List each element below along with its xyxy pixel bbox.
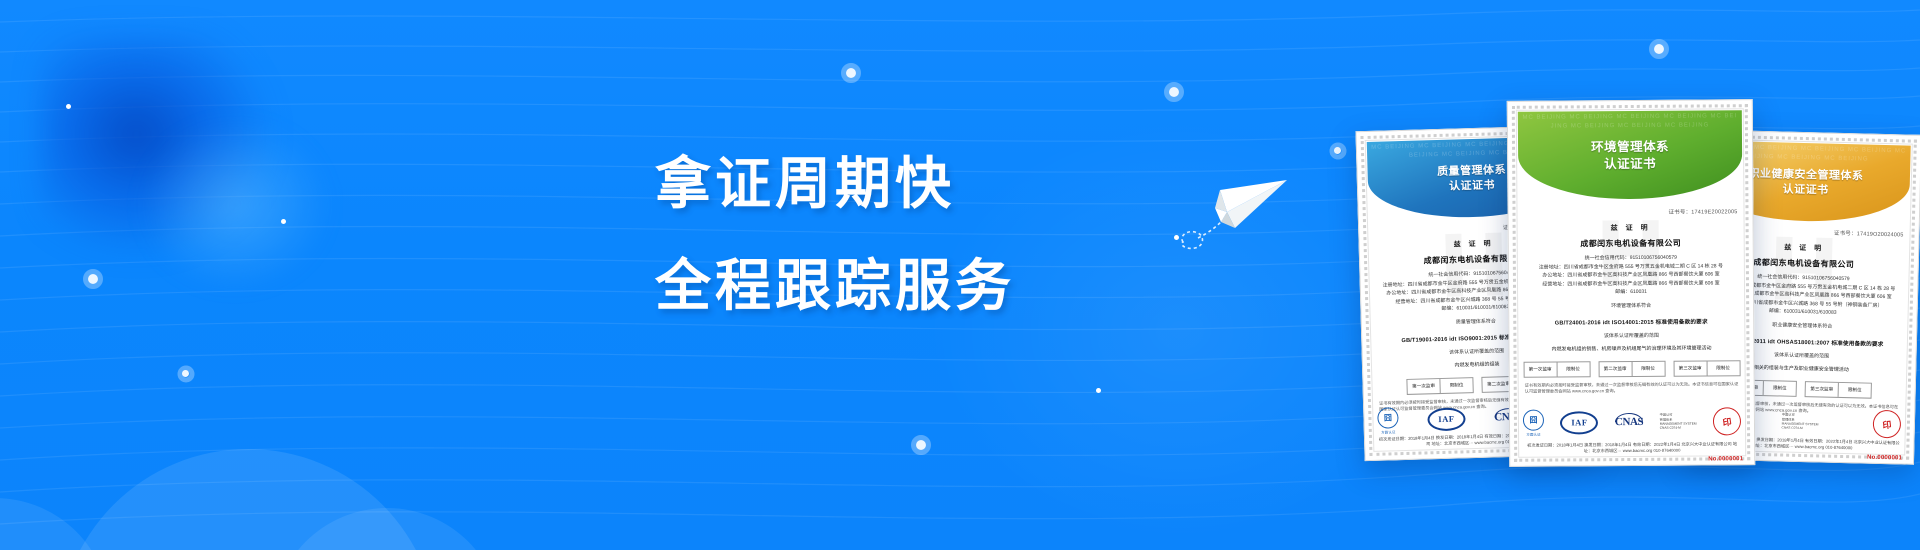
scope-label: 该体系认证所覆盖的范围 <box>1524 331 1738 339</box>
surveillance-group: 第一次监审限制位 <box>1523 361 1590 377</box>
surveillance-group: 第一次监审限制位 <box>1406 377 1473 395</box>
standard-reference: GB/T24001-2016 idt ISO14001:2015 标准使用备款的… <box>1524 317 1738 326</box>
decor-dot <box>88 274 98 284</box>
accreditation-logos: 囧方圆认证 IAF CNAS 中国认可管理体系MANAGEMENT SYSTEM… <box>1523 407 1741 437</box>
company-name: 成都闰东电机设备有限公司 <box>1524 237 1738 249</box>
glow-blob-light <box>140 120 330 290</box>
headline: 拿证周期快 全程跟踪服务 <box>655 143 1075 329</box>
promo-banner: 拿证周期快 全程跟踪服务 H MC BEIJING MC BEIJING MC … <box>0 0 1920 550</box>
prove-label: 兹 证 明 <box>1524 222 1738 233</box>
certificate-number-label: 证书号： <box>1668 210 1691 216</box>
scope-text: 内燃发电机组的销售、机房噪声及机组尾气的治理环境及其环境管理活动 <box>1524 344 1738 353</box>
fangyuan-seal-icon: 囧方圆认证 <box>1377 407 1399 435</box>
decor-dot <box>1169 87 1179 97</box>
credit-code-label: 统一社会信用代码： <box>1757 274 1802 281</box>
decor-dot <box>846 68 856 78</box>
postcode: 邮编：610031 <box>1524 287 1738 297</box>
certificate-card-environment[interactable]: H MC BEIJING MC BEIJING MC BEIJING MC BE… <box>1507 99 1756 467</box>
decor-dot <box>1096 388 1101 393</box>
credit-code-value: 91510106756040579 <box>1802 275 1849 282</box>
certificate-stack: H MC BEIJING MC BEIJING MC BEIJING MC BE… <box>1360 82 1920 482</box>
red-stamp-icon: 印 <box>1711 405 1743 437</box>
certificate-number-label: 证书号： <box>1834 231 1857 238</box>
fangyuan-seal-icon: 囧方圆认证 <box>1523 409 1544 436</box>
iaf-logo-icon: IAF <box>1560 411 1598 434</box>
surveillance-group: 第三次监审限制位 <box>1805 381 1872 399</box>
surveillance-group: 第三次监审限制位 <box>1673 360 1740 376</box>
decor-dot <box>281 219 286 224</box>
paper-plane-icon <box>1165 150 1315 260</box>
certificate-number: 证书号：17419E20022005 <box>1523 207 1737 216</box>
red-stamp-icon: 印 <box>1871 409 1902 440</box>
certificate-serial: No.0000001 <box>1708 456 1743 462</box>
decor-dot <box>182 370 189 377</box>
band-watermark-text: MC BEIJING MC BEIJING MC BEIJING MC BEIJ… <box>1518 110 1743 200</box>
surveillance-boxes: 第一次监审限制位 第二次监审限制位 第三次监审限制位 <box>1525 360 1739 377</box>
headline-line-2: 全程跟踪服务 <box>655 245 1075 329</box>
management-system-text: 中国认可管理体系MANAGEMENT SYSTEMCNAS C074-M <box>1660 413 1697 431</box>
fineprint: 证书有效期内必须按时接受监督审核，未通过一次监督审核后无缝有效的认证可以为无效。… <box>1525 381 1739 394</box>
credit-code-value: 91510106756040579 <box>1630 255 1677 261</box>
decor-dot <box>1334 147 1341 154</box>
certificate-number-value: 17419O20024005 <box>1857 231 1904 238</box>
certificate-serial: No.0000001 <box>1867 455 1902 462</box>
decor-dot <box>1654 44 1664 54</box>
cnas-logo-icon: CNAS <box>1615 416 1643 428</box>
certificate-header-band: MC BEIJING MC BEIJING MC BEIJING MC BEIJ… <box>1518 110 1743 200</box>
headline-line-1: 拿证周期快 <box>655 143 1075 227</box>
decor-dot <box>66 104 71 109</box>
system-label: 环境管理体系符合 <box>1524 301 1738 309</box>
decor-dot <box>916 440 926 450</box>
certificate-number-value: 17419E20022005 <box>1691 209 1737 215</box>
management-system-text: 中国认可管理体系MANAGEMENT SYSTEMCNAS C074-M <box>1782 413 1819 432</box>
iaf-logo-icon: IAF <box>1427 407 1466 431</box>
credit-code-label: 统一社会信用代码： <box>1428 271 1473 278</box>
certificate-body: 证书号：17419E20022005 兹 证 明 成都闰东电机设备有限公司 统一… <box>1523 207 1739 440</box>
certificate-footer: 初次发证日期：2018年1月4日 换发日期：2018年1月4日 有效日期：202… <box>1523 441 1741 455</box>
credit-code-label: 统一社会信用代码： <box>1585 255 1630 261</box>
surveillance-group: 第二次监审限制位 <box>1598 360 1665 376</box>
